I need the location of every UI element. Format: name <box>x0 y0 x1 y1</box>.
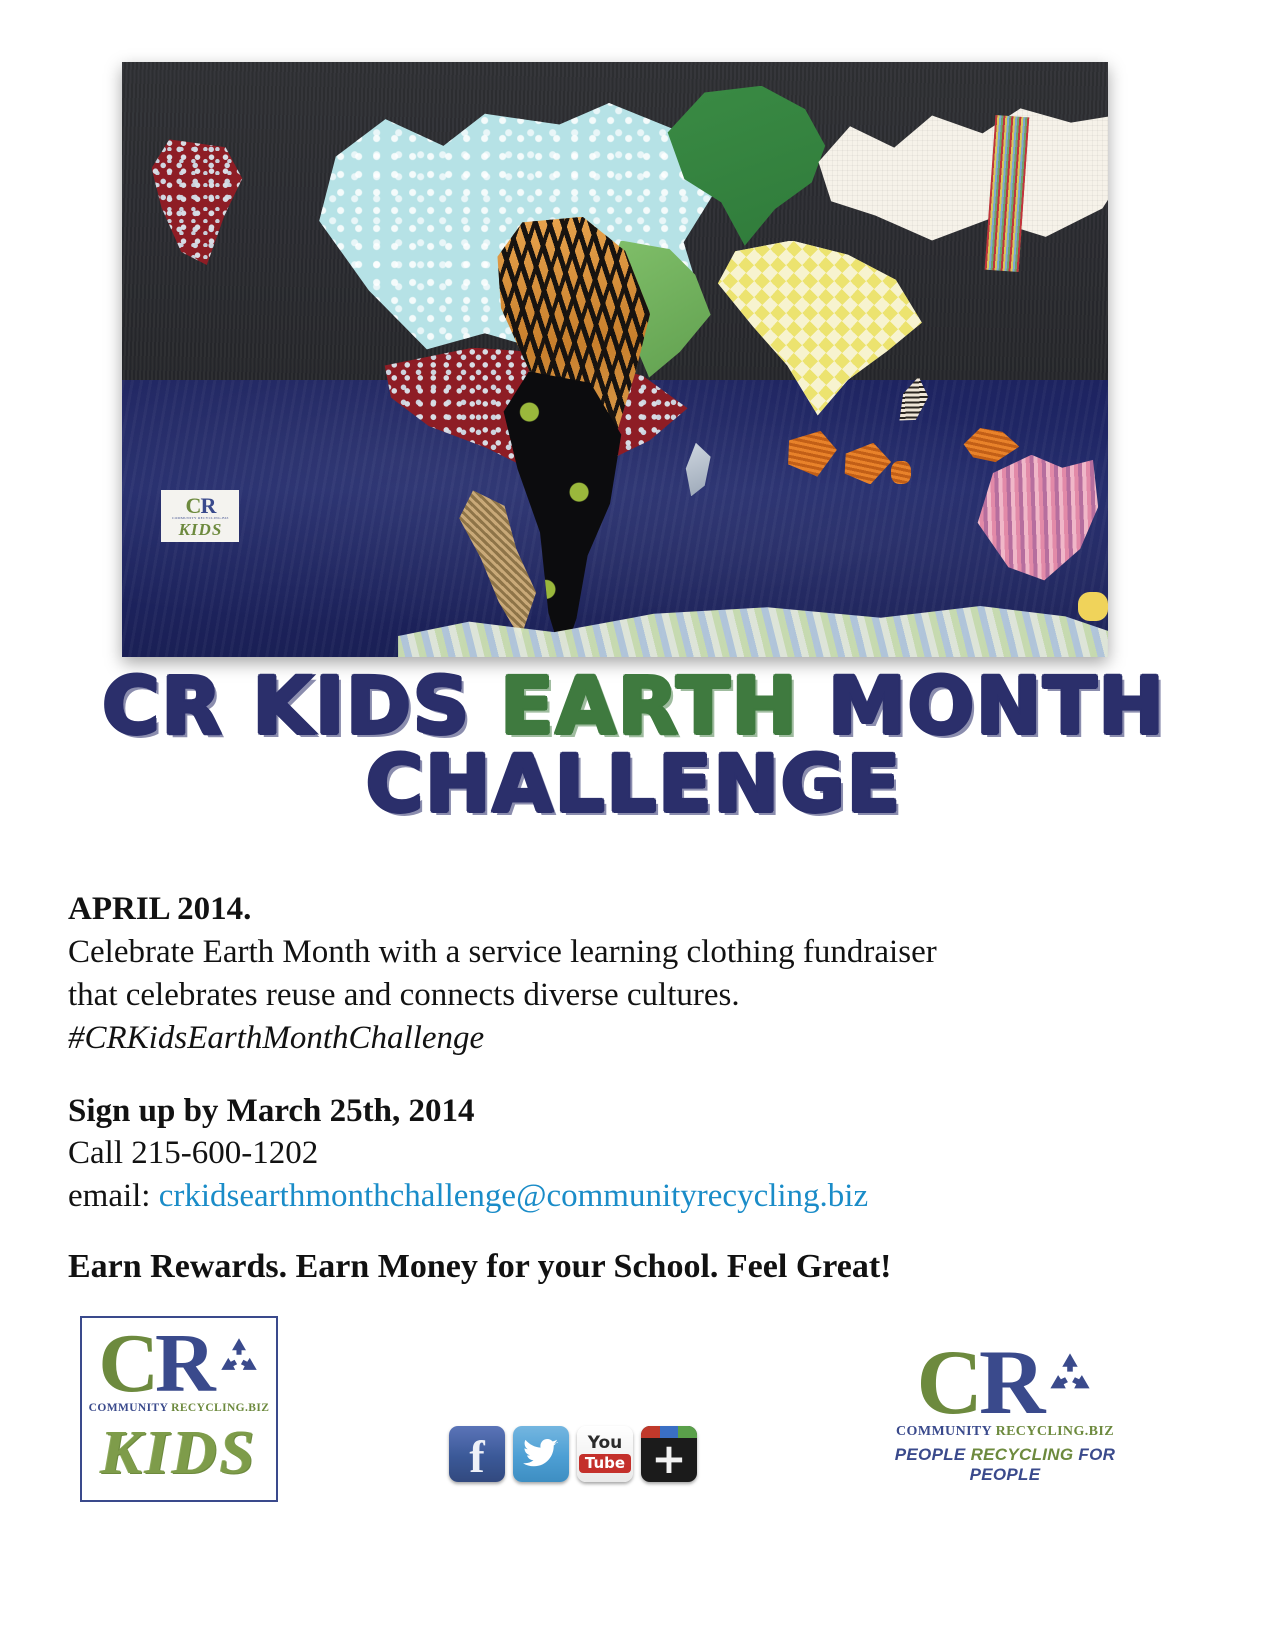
title-part-earth: EARTH <box>500 662 799 752</box>
poster-title: CR KIDS EARTH MONTH CHALLENGE <box>0 672 1268 822</box>
recycle-icon <box>1047 1352 1093 1394</box>
quilt-patch-kids: KIDS <box>179 521 223 538</box>
crkids-wordmark: C R <box>98 1329 259 1400</box>
crkids-kids-word: KIDS <box>101 1418 258 1489</box>
crkids-letter-r: R <box>155 1329 216 1400</box>
crkids-subtitle-recycling: RECYCLING.BIZ <box>171 1402 269 1414</box>
crkids-letter-c: C <box>98 1329 159 1400</box>
title-line-1: CR KIDS EARTH MONTH <box>0 672 1268 744</box>
rewards-tagline: Earn Rewards. Earn Money for your School… <box>68 1248 1168 1286</box>
youtube-you-text: You <box>588 1435 623 1452</box>
youtube-icon[interactable]: You Tube <box>577 1426 633 1482</box>
googleplus-plus-glyph: + <box>651 1438 686 1480</box>
description-line-1: Celebrate Earth Month with a service lea… <box>68 931 1138 974</box>
googleplus-color-bar <box>641 1426 697 1438</box>
quilt-artwork: CR COMMUNITY RECYCLING.BIZ KIDS <box>122 62 1108 657</box>
crkids-logo: C R COMMUNITY RECYCLING.BIZ KIDS <box>80 1316 278 1502</box>
lead-date: APRIL 2014. <box>68 888 1138 931</box>
quilt-world-map-photo: CR COMMUNITY RECYCLING.BIZ KIDS <box>122 62 1108 657</box>
recycle-icon <box>218 1337 260 1375</box>
cr-corporate-letter-c: C <box>917 1344 983 1421</box>
twitter-bird-glyph <box>523 1439 559 1469</box>
twitter-icon[interactable] <box>513 1426 569 1482</box>
cr-corporate-mark <box>1047 1352 1093 1394</box>
social-icon-bar: f You Tube + <box>449 1426 697 1482</box>
email-line: email: crkidsearthmonthchallenge@communi… <box>68 1175 1138 1218</box>
quilt-crkids-patch: CR COMMUNITY RECYCLING.BIZ KIDS <box>161 490 239 542</box>
cr-corporate-logo: C R COMMUNITY RECYCLING.BIZ PEOPLE RECYC… <box>880 1344 1130 1485</box>
googleplus-icon[interactable]: + <box>641 1426 697 1482</box>
facebook-icon[interactable]: f <box>449 1426 505 1482</box>
signup-deadline: Sign up by March 25th, 2014 <box>68 1090 1138 1133</box>
title-part-month: MONTH <box>799 662 1166 752</box>
cr-corporate-subtitle: COMMUNITY RECYCLING.BIZ <box>880 1424 1130 1440</box>
cr-corporate-wordmark: C R <box>880 1344 1130 1421</box>
crkids-subtitle: COMMUNITY RECYCLING.BIZ <box>89 1402 270 1414</box>
map-region-indonesia-east <box>891 461 911 485</box>
crkids-mark <box>218 1337 260 1375</box>
description-line-2: that celebrates reuse and connects diver… <box>68 974 1138 1017</box>
title-line-2: CHALLENGE <box>0 750 1268 822</box>
cr-tagline-recycling: RECYCLING <box>971 1445 1079 1464</box>
cr-corporate-letter-r: R <box>979 1344 1045 1421</box>
youtube-tube-text: Tube <box>579 1454 631 1473</box>
quilt-patch-letter-c: C <box>186 493 201 518</box>
cr-tagline-people: PEOPLE <box>895 1445 971 1464</box>
crkids-subtitle-community: COMMUNITY <box>89 1402 171 1414</box>
phone-line: Call 215-600-1202 <box>68 1132 1138 1175</box>
facebook-glyph: f <box>469 1434 484 1480</box>
poster-body-copy: APRIL 2014. Celebrate Earth Month with a… <box>68 888 1138 1218</box>
title-part-crkids: CR KIDS <box>102 662 500 752</box>
quilt-patch-wordmark: CR <box>186 495 216 517</box>
cr-corporate-tagline: PEOPLE RECYCLING FOR PEOPLE <box>880 1445 1130 1485</box>
cr-corporate-subtitle-community: COMMUNITY <box>896 1424 996 1439</box>
copy-spacer <box>68 1060 1138 1090</box>
cr-corporate-subtitle-recycling: RECYCLING.BIZ <box>996 1424 1114 1439</box>
hashtag: #CRKidsEarthMonthChallenge <box>68 1017 1138 1060</box>
email-address-link[interactable]: crkidsearthmonthchallenge@communityrecyc… <box>159 1178 868 1214</box>
footer-logo-row: C R COMMUNITY RECYCLING.BIZ KIDS f Yo <box>0 1316 1268 1546</box>
quilt-patch-letter-r: R <box>200 493 215 518</box>
email-label: email: <box>68 1178 159 1214</box>
map-region-new-zealand <box>1078 592 1108 622</box>
